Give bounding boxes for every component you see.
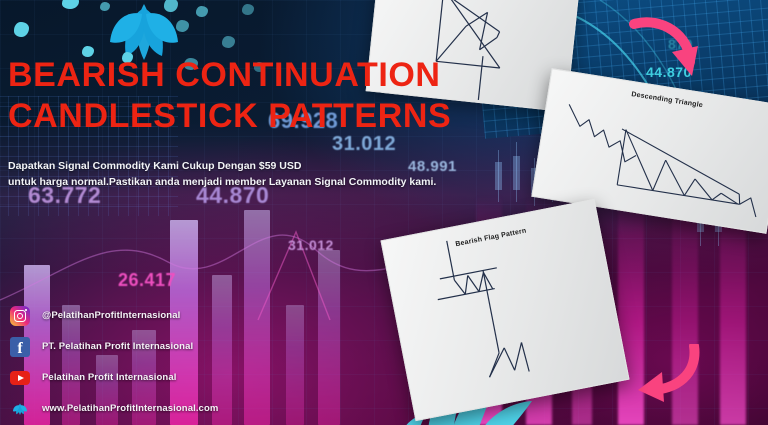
social-row-instagram[interactable]: @PelatihanProfitInternasional bbox=[10, 302, 340, 329]
page-subtitle: Dapatkan Signal Commodity Kami Cukup Den… bbox=[8, 158, 478, 190]
social-label: PT. Pelatihan Profit Internasional bbox=[42, 341, 193, 352]
social-label: www.PelatihanProfitInternasional.com bbox=[42, 403, 218, 414]
social-label: @PelatihanProfitInternasional bbox=[42, 310, 180, 321]
social-label: Pelatihan Profit Internasional bbox=[42, 372, 176, 383]
price-label: 26.417 bbox=[118, 270, 176, 291]
arrow-down-left-icon bbox=[620, 344, 706, 410]
social-row-website[interactable]: www.PelatihanProfitInternasional.com bbox=[10, 395, 340, 422]
instagram-icon bbox=[10, 306, 30, 326]
price-label: 31.012 bbox=[288, 237, 334, 253]
social-row-youtube[interactable]: Pelatihan Profit Internasional bbox=[10, 364, 340, 391]
facebook-icon: f bbox=[10, 337, 30, 357]
social-links: @PelatihanProfitInternasional f PT. Pela… bbox=[10, 302, 340, 425]
arrow-down-right-icon bbox=[628, 12, 708, 90]
poster-canvas: 69.928 31.012 48.991 63.772 44.870 26.41… bbox=[0, 0, 768, 425]
lotus-icon bbox=[10, 399, 30, 419]
social-row-facebook[interactable]: f PT. Pelatihan Profit Internasional bbox=[10, 333, 340, 360]
page-title: BEARISH CONTINUATION CANDLESTICK PATTERN… bbox=[8, 55, 508, 137]
youtube-icon bbox=[10, 368, 30, 388]
